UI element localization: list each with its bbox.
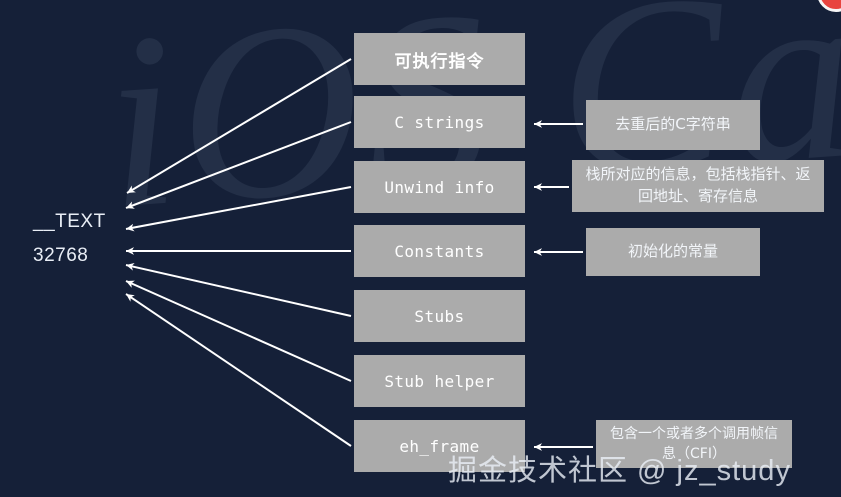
section-box-unwind-info[interactable]: Unwind info: [354, 161, 525, 213]
segment-name-label: __TEXT: [33, 211, 106, 233]
arrow-to-unwind: [126, 187, 351, 229]
arrow-to-ehframe: [126, 294, 351, 446]
segment-size-label: 32768: [33, 245, 88, 267]
note-box-c-strings: 去重后的C字符串: [586, 100, 760, 150]
note-box-constants: 初始化的常量: [586, 228, 760, 276]
arrow-to-cstrings: [126, 122, 351, 208]
arrow-to-exec: [127, 59, 351, 193]
note-box-eh-frame: 包含一个或者多个调用帧信息（CFI）: [596, 420, 792, 468]
diagram-canvas: iOS Cat __TEXT 32768 可执行指令 C strings U: [0, 0, 841, 497]
arrow-to-stubhelper: [126, 281, 351, 381]
arrow-to-stubs: [126, 265, 351, 316]
section-box-constants[interactable]: Constants: [354, 225, 525, 277]
corner-badge-icon: [817, 0, 841, 12]
section-box-stubs[interactable]: Stubs: [354, 290, 525, 342]
section-box-eh-frame[interactable]: eh_frame: [354, 420, 525, 472]
section-box-stub-helper[interactable]: Stub helper: [354, 355, 525, 407]
section-box-c-strings[interactable]: C strings: [354, 96, 525, 148]
note-box-unwind-info: 栈所对应的信息，包括栈指针、返回地址、寄存信息: [572, 160, 824, 212]
section-box-executable-instructions[interactable]: 可执行指令: [354, 33, 525, 85]
